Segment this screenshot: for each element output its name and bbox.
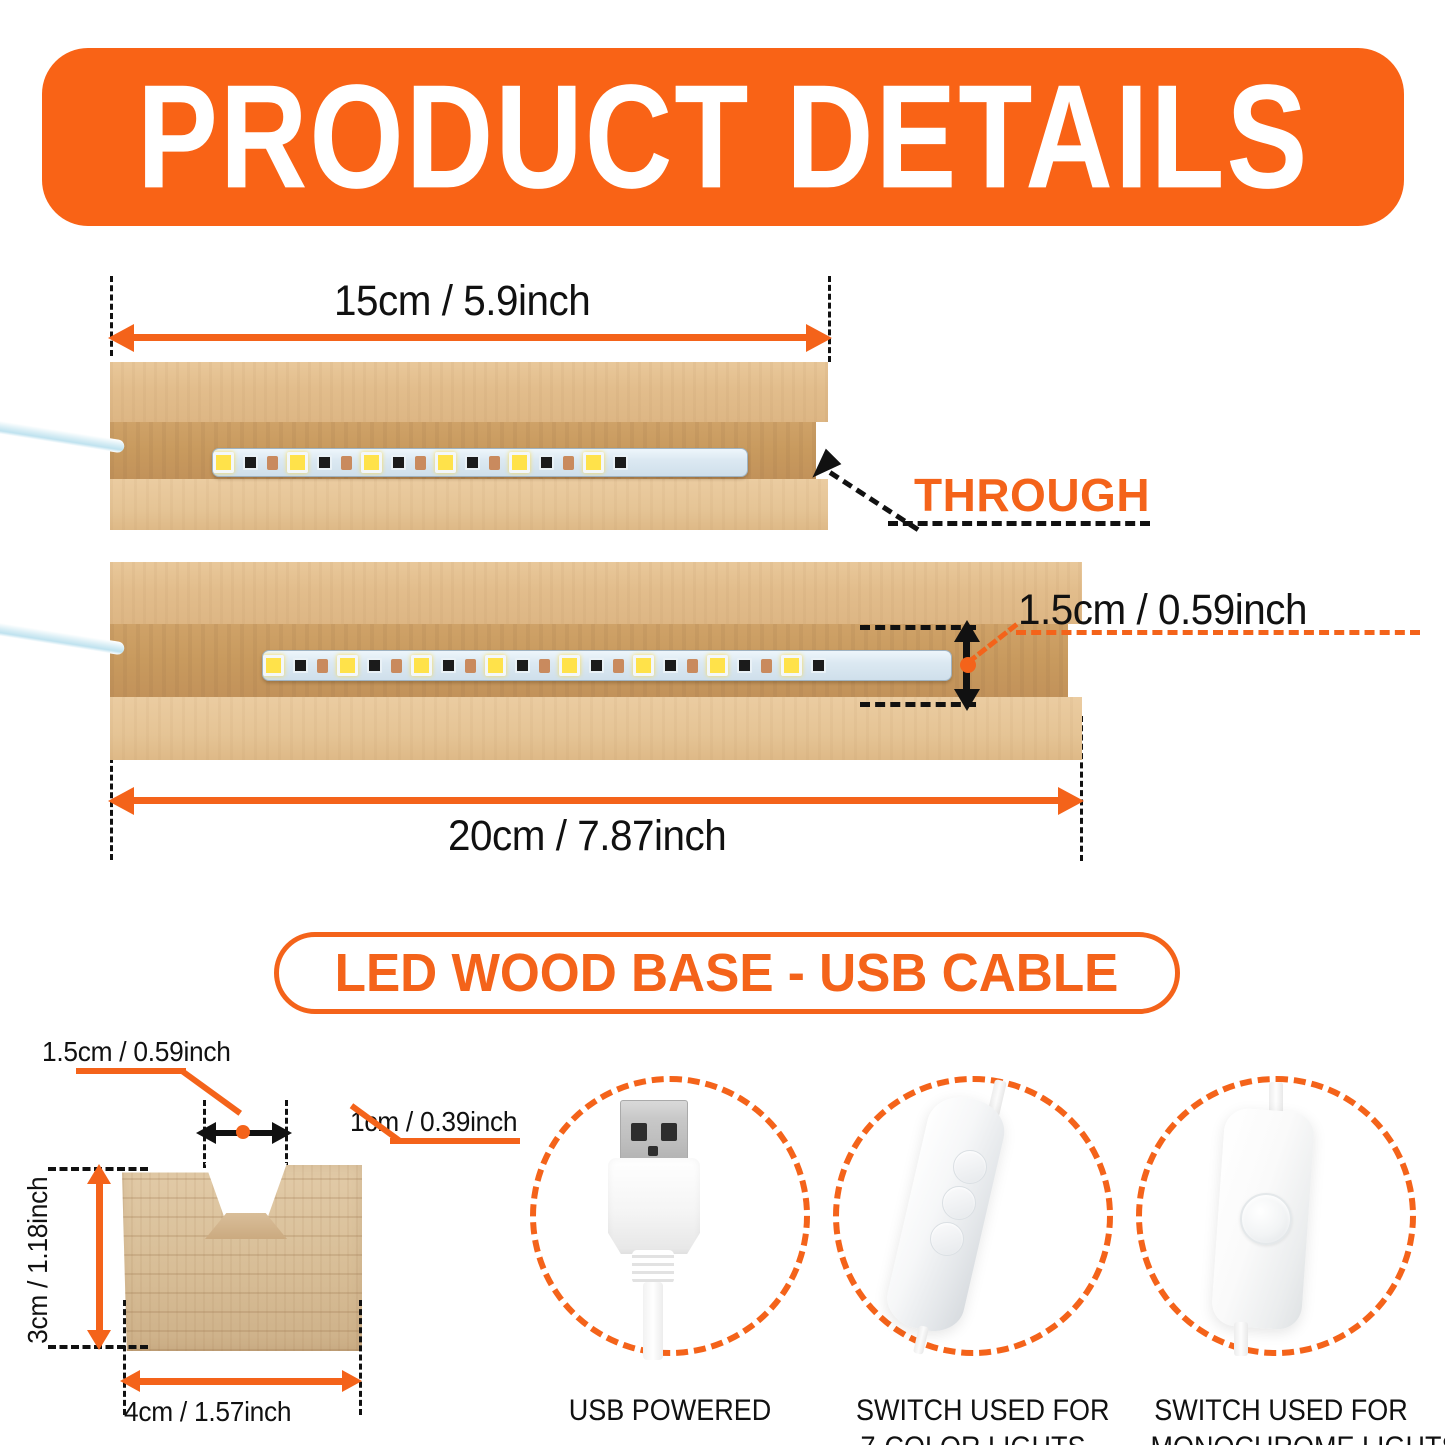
led-segment — [213, 449, 234, 476]
usb-strain-relief — [632, 1250, 674, 1284]
header-banner: PRODUCT DETAILS — [42, 48, 1404, 226]
led-segment — [489, 449, 500, 476]
led-segment — [441, 651, 456, 680]
label-groove-width: 1.5cm / 0.59inch — [42, 1036, 231, 1068]
arrow-15cm-head-left — [108, 324, 134, 352]
usb-plug-body — [608, 1158, 700, 1254]
led-segment — [539, 449, 554, 476]
led-segment — [411, 651, 432, 680]
led-segment — [509, 449, 530, 476]
led-segment — [391, 651, 402, 680]
arrow-15cm-head-right — [806, 324, 832, 352]
board-upper-front-lip — [110, 479, 828, 530]
led-segment — [317, 651, 328, 680]
led-segment — [633, 651, 654, 680]
arrow-20cm — [126, 797, 1066, 804]
led-segment — [341, 449, 352, 476]
groove-width-leader-horizontal — [76, 1068, 186, 1074]
led-segment — [737, 651, 752, 680]
led-segment — [243, 449, 258, 476]
led-segment — [337, 651, 358, 680]
xsec-width-head-left — [120, 1370, 140, 1392]
xsec-height-head-down — [87, 1330, 111, 1350]
board-upper-top-face — [110, 362, 828, 422]
badge-caption-usb: USB POWERED — [553, 1392, 787, 1429]
badge-caption-line2: MONOCHROME LIGHTS — [1151, 1429, 1412, 1445]
seven-color-button-bottom — [930, 1222, 964, 1256]
led-segment — [559, 651, 580, 680]
xsec-height-arrow-line — [96, 1180, 103, 1332]
led-segment — [589, 651, 604, 680]
badge-caption-line2: 7-COLOR LIGHTS — [856, 1429, 1090, 1445]
led-segment — [361, 449, 382, 476]
led-segment — [367, 651, 382, 680]
led-segment — [485, 651, 506, 680]
height-arrow-head-down — [954, 689, 980, 711]
label-xsec-width: 4cm / 1.57inch — [124, 1396, 291, 1428]
led-segment — [415, 449, 426, 476]
led-segment — [539, 651, 550, 680]
badge-caption-line1: SWITCH USED FOR — [856, 1392, 1090, 1429]
wood-board-upper — [110, 362, 828, 530]
monochrome-switch-button — [1240, 1193, 1292, 1245]
led-segment — [293, 651, 308, 680]
led-segment — [465, 449, 480, 476]
badge-caption-line1: USB POWERED — [553, 1392, 787, 1429]
led-segment — [613, 651, 624, 680]
through-label: THROUGH — [914, 468, 1150, 522]
xsec-width-arrow-line — [136, 1378, 346, 1385]
groove-width-dot — [236, 1125, 250, 1139]
led-strip-upper — [212, 448, 748, 477]
label-xsec-height: 3cm / 1.18inch — [22, 1184, 54, 1344]
arrow-15cm — [126, 334, 814, 341]
badge-caption-line1: SWITCH USED FOR — [1151, 1392, 1412, 1429]
led-segment — [465, 651, 476, 680]
monochrome-cord-bottom — [1234, 1322, 1248, 1356]
led-segment — [687, 651, 698, 680]
led-segment — [263, 651, 284, 680]
xsec-height-head-up — [87, 1164, 111, 1184]
led-segment — [563, 449, 574, 476]
usb-slot-right — [661, 1123, 677, 1141]
groove-depth-leader-horizontal — [390, 1138, 520, 1144]
led-segment — [781, 651, 802, 680]
seven-color-button-top — [953, 1150, 987, 1184]
usb-slot-center — [648, 1146, 658, 1156]
label-height-1-5cm: 1.5cm / 0.59inch — [1018, 586, 1307, 635]
led-segment — [391, 449, 406, 476]
xsec-width-head-right — [342, 1370, 362, 1392]
usb-cord — [643, 1282, 663, 1360]
groove-width-head-left — [196, 1122, 216, 1144]
led-segment — [267, 449, 278, 476]
page-title: PRODUCT DETAILS — [137, 63, 1309, 211]
label-width-20cm: 20cm / 7.87inch — [448, 812, 726, 861]
led-segment — [515, 651, 530, 680]
product-details-infographic: PRODUCT DETAILS 15cm / 5.9inch — [0, 0, 1445, 1445]
led-strip-lower — [262, 650, 952, 681]
arrow-20cm-head-left — [108, 787, 134, 815]
usb-slot-left — [631, 1123, 647, 1141]
width-guide-xsec-right — [359, 1300, 362, 1415]
badge-caption-seven-color: SWITCH USED FOR 7-COLOR LIGHTS — [856, 1392, 1090, 1445]
arrow-20cm-head-right — [1058, 787, 1084, 815]
groove-width-leader-diagonal — [180, 1069, 242, 1116]
height-arrow-head-up — [954, 620, 980, 642]
pill-label: LED WOOD BASE - USB CABLE — [335, 942, 1119, 1004]
usb-cable-upper — [0, 420, 125, 454]
section-pill-led-wood-base: LED WOOD BASE - USB CABLE — [274, 932, 1180, 1014]
led-segment — [435, 449, 456, 476]
seven-color-button-middle — [942, 1186, 976, 1220]
led-segment — [317, 449, 332, 476]
badge-caption-monochrome: SWITCH USED FOR MONOCHROME LIGHTS — [1151, 1392, 1412, 1445]
led-segment — [811, 651, 826, 680]
led-segment — [707, 651, 728, 680]
board-lower-top-face — [110, 562, 1082, 624]
led-segment — [761, 651, 772, 680]
label-width-15cm: 15cm / 5.9inch — [334, 277, 590, 326]
groove-width-head-right — [272, 1122, 292, 1144]
led-segment — [583, 449, 604, 476]
led-segment — [613, 449, 628, 476]
led-segment — [287, 449, 308, 476]
led-segment — [663, 651, 678, 680]
usb-cable-lower — [0, 622, 125, 656]
